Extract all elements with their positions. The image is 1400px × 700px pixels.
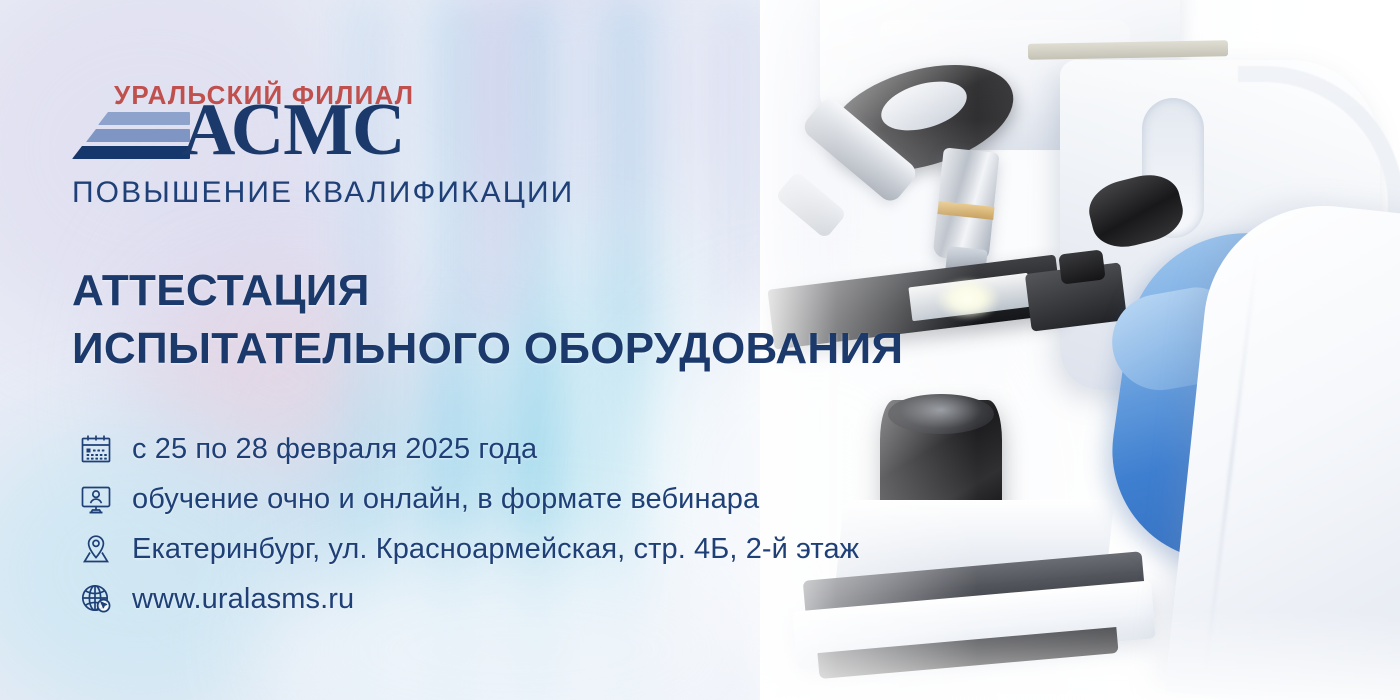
stacked-books-bar-bottom — [72, 146, 190, 159]
detail-text-dates: с 25 по 28 февраля 2025 года — [132, 433, 537, 466]
stacked-books-bar-top — [98, 112, 190, 125]
webinar-monitor-icon — [74, 477, 118, 521]
map-pin-icon — [74, 527, 118, 571]
stacked-books-icon — [72, 110, 190, 166]
calendar-icon — [74, 427, 118, 471]
logo-subtitle: ПОВЫШЕНИЕ КВАЛИФИКАЦИИ — [72, 176, 574, 210]
globe-cursor-icon — [74, 577, 118, 621]
detail-row-address: Екатеринбург, ул. Красноармейская, стр. … — [74, 524, 859, 574]
page-title: АТТЕСТАЦИЯ ИСПЫТАТЕЛЬНОГО ОБОРУДОВАНИЯ — [72, 262, 903, 378]
course-details-list: с 25 по 28 февраля 2025 года обучение оч… — [74, 424, 859, 624]
detail-row-website[interactable]: www.uralasms.ru — [74, 574, 859, 624]
logo-wordmark: АСМС — [182, 96, 404, 164]
detail-text-format: обучение очно и онлайн, в формате вебина… — [132, 483, 759, 516]
detail-row-format: обучение очно и онлайн, в формате вебина… — [74, 474, 859, 524]
headline-line-2: ИСПЫТАТЕЛЬНОГО ОБОРУДОВАНИЯ — [72, 320, 903, 378]
detail-text-website[interactable]: www.uralasms.ru — [132, 583, 354, 616]
detail-row-dates: с 25 по 28 февраля 2025 года — [74, 424, 859, 474]
stacked-books-bar-middle — [86, 129, 190, 142]
content-area: УРАЛЬСКИЙ ФИЛИАЛ АСМС ПОВЫШЕНИЕ КВАЛИФИК… — [72, 0, 952, 700]
course-promo-banner: УРАЛЬСКИЙ ФИЛИАЛ АСМС ПОВЫШЕНИЕ КВАЛИФИК… — [0, 0, 1400, 700]
detail-text-address: Екатеринбург, ул. Красноармейская, стр. … — [132, 533, 859, 566]
headline-line-1: АТТЕСТАЦИЯ — [72, 262, 903, 320]
